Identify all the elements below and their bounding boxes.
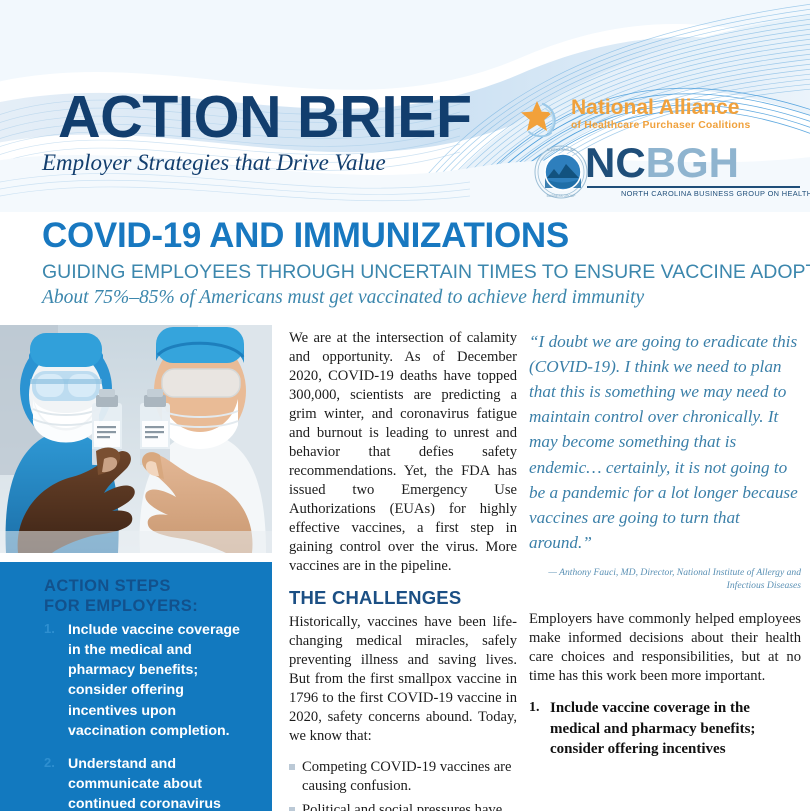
pull-quote-attribution: — Anthony Fauci, MD, Director, National … <box>529 567 801 592</box>
list-item-number: 2. <box>44 755 55 770</box>
action-brief-page: ACTION BRIEF Employer Strategies that Dr… <box>0 0 810 811</box>
national-alliance-tagline: of Healthcare Purchaser Coalitions <box>571 120 750 131</box>
list-item-label: Understand and communicate about continu… <box>68 756 221 811</box>
action-steps-heading-line2: FOR EMPLOYERS: <box>44 596 264 616</box>
list-item-label: Competing COVID-19 vaccines are causing … <box>302 759 512 794</box>
svg-text:NORTH CAROLINA: NORTH CAROLINA <box>547 148 576 152</box>
intro-paragraph: We are at the intersection of calamity a… <box>289 329 517 576</box>
challenges-paragraph: Historically, vaccines have been life-ch… <box>289 613 517 746</box>
bullet-square-icon <box>289 764 295 770</box>
orange-star-icon <box>519 99 563 141</box>
ncbgh-word-dark: NC <box>585 139 646 186</box>
ncbgh-logo: NORTH CAROLINA BUSINESS GROUP NCBGH NORT… <box>533 142 803 204</box>
title-block: COVID-19 AND IMMUNIZATIONS GUIDING EMPLO… <box>42 218 802 309</box>
bullet-square-icon <box>289 807 295 811</box>
list-item-label: Include vaccine coverage in the medical … <box>68 622 240 739</box>
spacer <box>529 592 801 610</box>
action-steps-heading-line1: ACTION STEPS <box>44 576 264 596</box>
list-item: 2. Understand and communicate about cont… <box>44 754 256 811</box>
ncbgh-divider <box>587 186 800 188</box>
article-heading: COVID-19 AND IMMUNIZATIONS <box>42 218 802 255</box>
list-item-label: Political and social pressures have led … <box>302 802 513 811</box>
page-title: ACTION BRIEF <box>58 88 472 147</box>
ncbgh-tagline: NORTH CAROLINA BUSINESS GROUP ON HEALTH <box>621 189 810 198</box>
right-numbered-list: 1. Include vaccine coverage in the medic… <box>529 698 801 760</box>
right-column-paragraph: Employers have commonly helped employees… <box>529 610 801 686</box>
article-tagline: About 75%–85% of Americans must get vacc… <box>42 287 802 308</box>
list-item: Competing COVID-19 vaccines are causing … <box>289 758 517 796</box>
pull-quote: “I doubt we are going to eradicate this … <box>529 329 801 555</box>
action-steps-list: 1. Include vaccine coverage in the medic… <box>44 620 256 811</box>
action-steps-heading: ACTION STEPS FOR EMPLOYERS: <box>44 576 264 616</box>
section-heading-challenges: THE CHALLENGES <box>289 588 517 608</box>
list-item: Political and social pressures have led … <box>289 801 517 811</box>
list-item-number: 1. <box>529 698 540 717</box>
action-steps-box: ACTION STEPS FOR EMPLOYERS: 1. Include v… <box>0 562 272 811</box>
national-alliance-name: National Alliance <box>571 97 750 119</box>
right-column: “I doubt we are going to eradicate this … <box>529 329 801 760</box>
ncbgh-word-light: BGH <box>646 139 739 186</box>
list-item: 1. Include vaccine coverage in the medic… <box>44 620 256 741</box>
logo-group: National Alliance of Healthcare Purchase… <box>515 92 800 207</box>
list-item-label: Include vaccine coverage in the medical … <box>550 700 755 757</box>
hero-photo <box>0 325 272 553</box>
ncbgh-seal-icon: NORTH CAROLINA BUSINESS GROUP <box>533 144 589 200</box>
national-alliance-logo: National Alliance of Healthcare Purchase… <box>515 97 800 143</box>
ncbgh-wordmark: NCBGH <box>585 142 739 184</box>
page-subtitle: Employer Strategies that Drive Value <box>42 150 386 176</box>
challenges-bullet-list: Competing COVID-19 vaccines are causing … <box>289 758 517 811</box>
article-subheading: GUIDING EMPLOYEES THROUGH UNCERTAIN TIME… <box>42 262 802 283</box>
list-item: 1. Include vaccine coverage in the medic… <box>529 698 801 760</box>
list-item-number: 1. <box>44 621 55 636</box>
middle-column: We are at the intersection of calamity a… <box>289 329 517 811</box>
svg-text:BUSINESS GROUP: BUSINESS GROUP <box>547 194 576 198</box>
